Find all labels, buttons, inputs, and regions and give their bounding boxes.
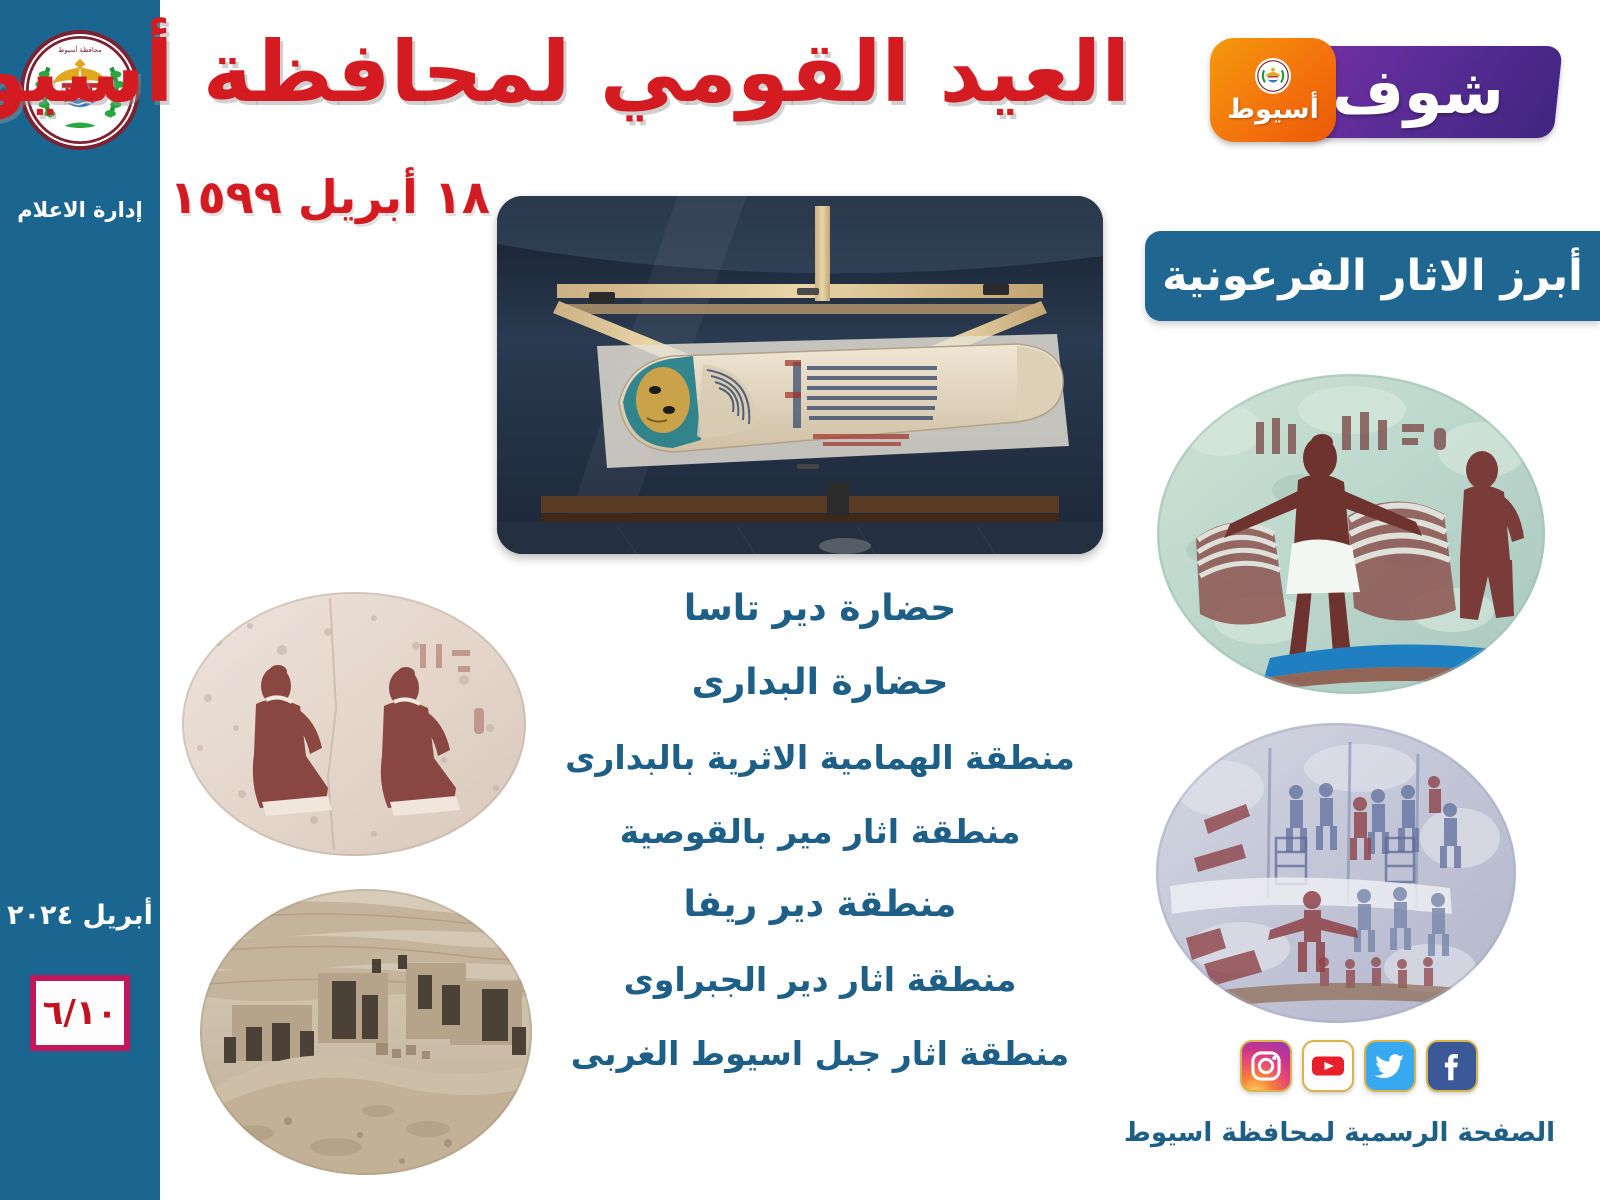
channel-logo: شوف أسيوط bbox=[1210, 32, 1558, 152]
event-date-text: ١٨ أبريل ١٥٩٩ bbox=[170, 170, 490, 224]
channel-logo-main-text: شوف bbox=[1332, 61, 1504, 123]
page-number-text: ٦/١٠ bbox=[43, 993, 118, 1033]
section-header-banner: أبرز الاثار الفرعونية bbox=[1145, 231, 1600, 321]
page-title: العيد القومي لمحافظة أسيوط bbox=[0, 28, 1130, 116]
list-item: منطقة اثار مير بالقوصية bbox=[620, 794, 1021, 868]
list-item: منطقة اثار دير الجبراوى bbox=[624, 942, 1017, 1016]
photo-sarcophagus-in-display-case bbox=[497, 196, 1103, 554]
twitter-icon[interactable] bbox=[1364, 1040, 1416, 1092]
photo-seated-figures-wall-painting bbox=[178, 588, 530, 860]
photo-tomb-painting-offering-bearers bbox=[1152, 370, 1550, 698]
left-sidebar: محافظة أسيوط bbox=[0, 0, 160, 1200]
media-department-label: إدارة الاعلام bbox=[0, 198, 160, 222]
photo-rock-cut-tombs-hillside bbox=[196, 885, 536, 1180]
facebook-icon[interactable] bbox=[1426, 1040, 1478, 1092]
photo-hieroglyphic-wall-relief bbox=[1150, 718, 1522, 1028]
antiquities-list: حضارة دير تاسا حضارة البدارى منطقة الهما… bbox=[520, 572, 1120, 1090]
list-item: حضارة دير تاسا bbox=[684, 572, 956, 646]
page-number-badge: ٦/١٠ bbox=[30, 975, 130, 1051]
list-item: منطقة الهمامية الاثرية بالبدارى bbox=[565, 720, 1075, 794]
instagram-icon[interactable] bbox=[1240, 1040, 1292, 1092]
official-page-caption: الصفحة الرسمية لمحافظة اسيوط bbox=[1185, 1118, 1555, 1148]
list-item: منطقة دير ريفا bbox=[684, 868, 957, 942]
youtube-icon[interactable] bbox=[1302, 1040, 1354, 1092]
social-media-bar bbox=[1240, 1040, 1478, 1092]
governorate-seal-icon bbox=[1255, 58, 1291, 94]
publication-month-label: أبريل ٢٠٢٤ bbox=[0, 900, 160, 931]
channel-logo-badge-text: أسيوط bbox=[1227, 96, 1319, 123]
list-item: حضارة البدارى bbox=[692, 646, 949, 720]
list-item: منطقة اثار جبل اسيوط الغربى bbox=[571, 1016, 1069, 1090]
channel-logo-badge: أسيوط bbox=[1210, 38, 1336, 142]
section-header-label: أبرز الاثار الفرعونية bbox=[1162, 251, 1583, 301]
